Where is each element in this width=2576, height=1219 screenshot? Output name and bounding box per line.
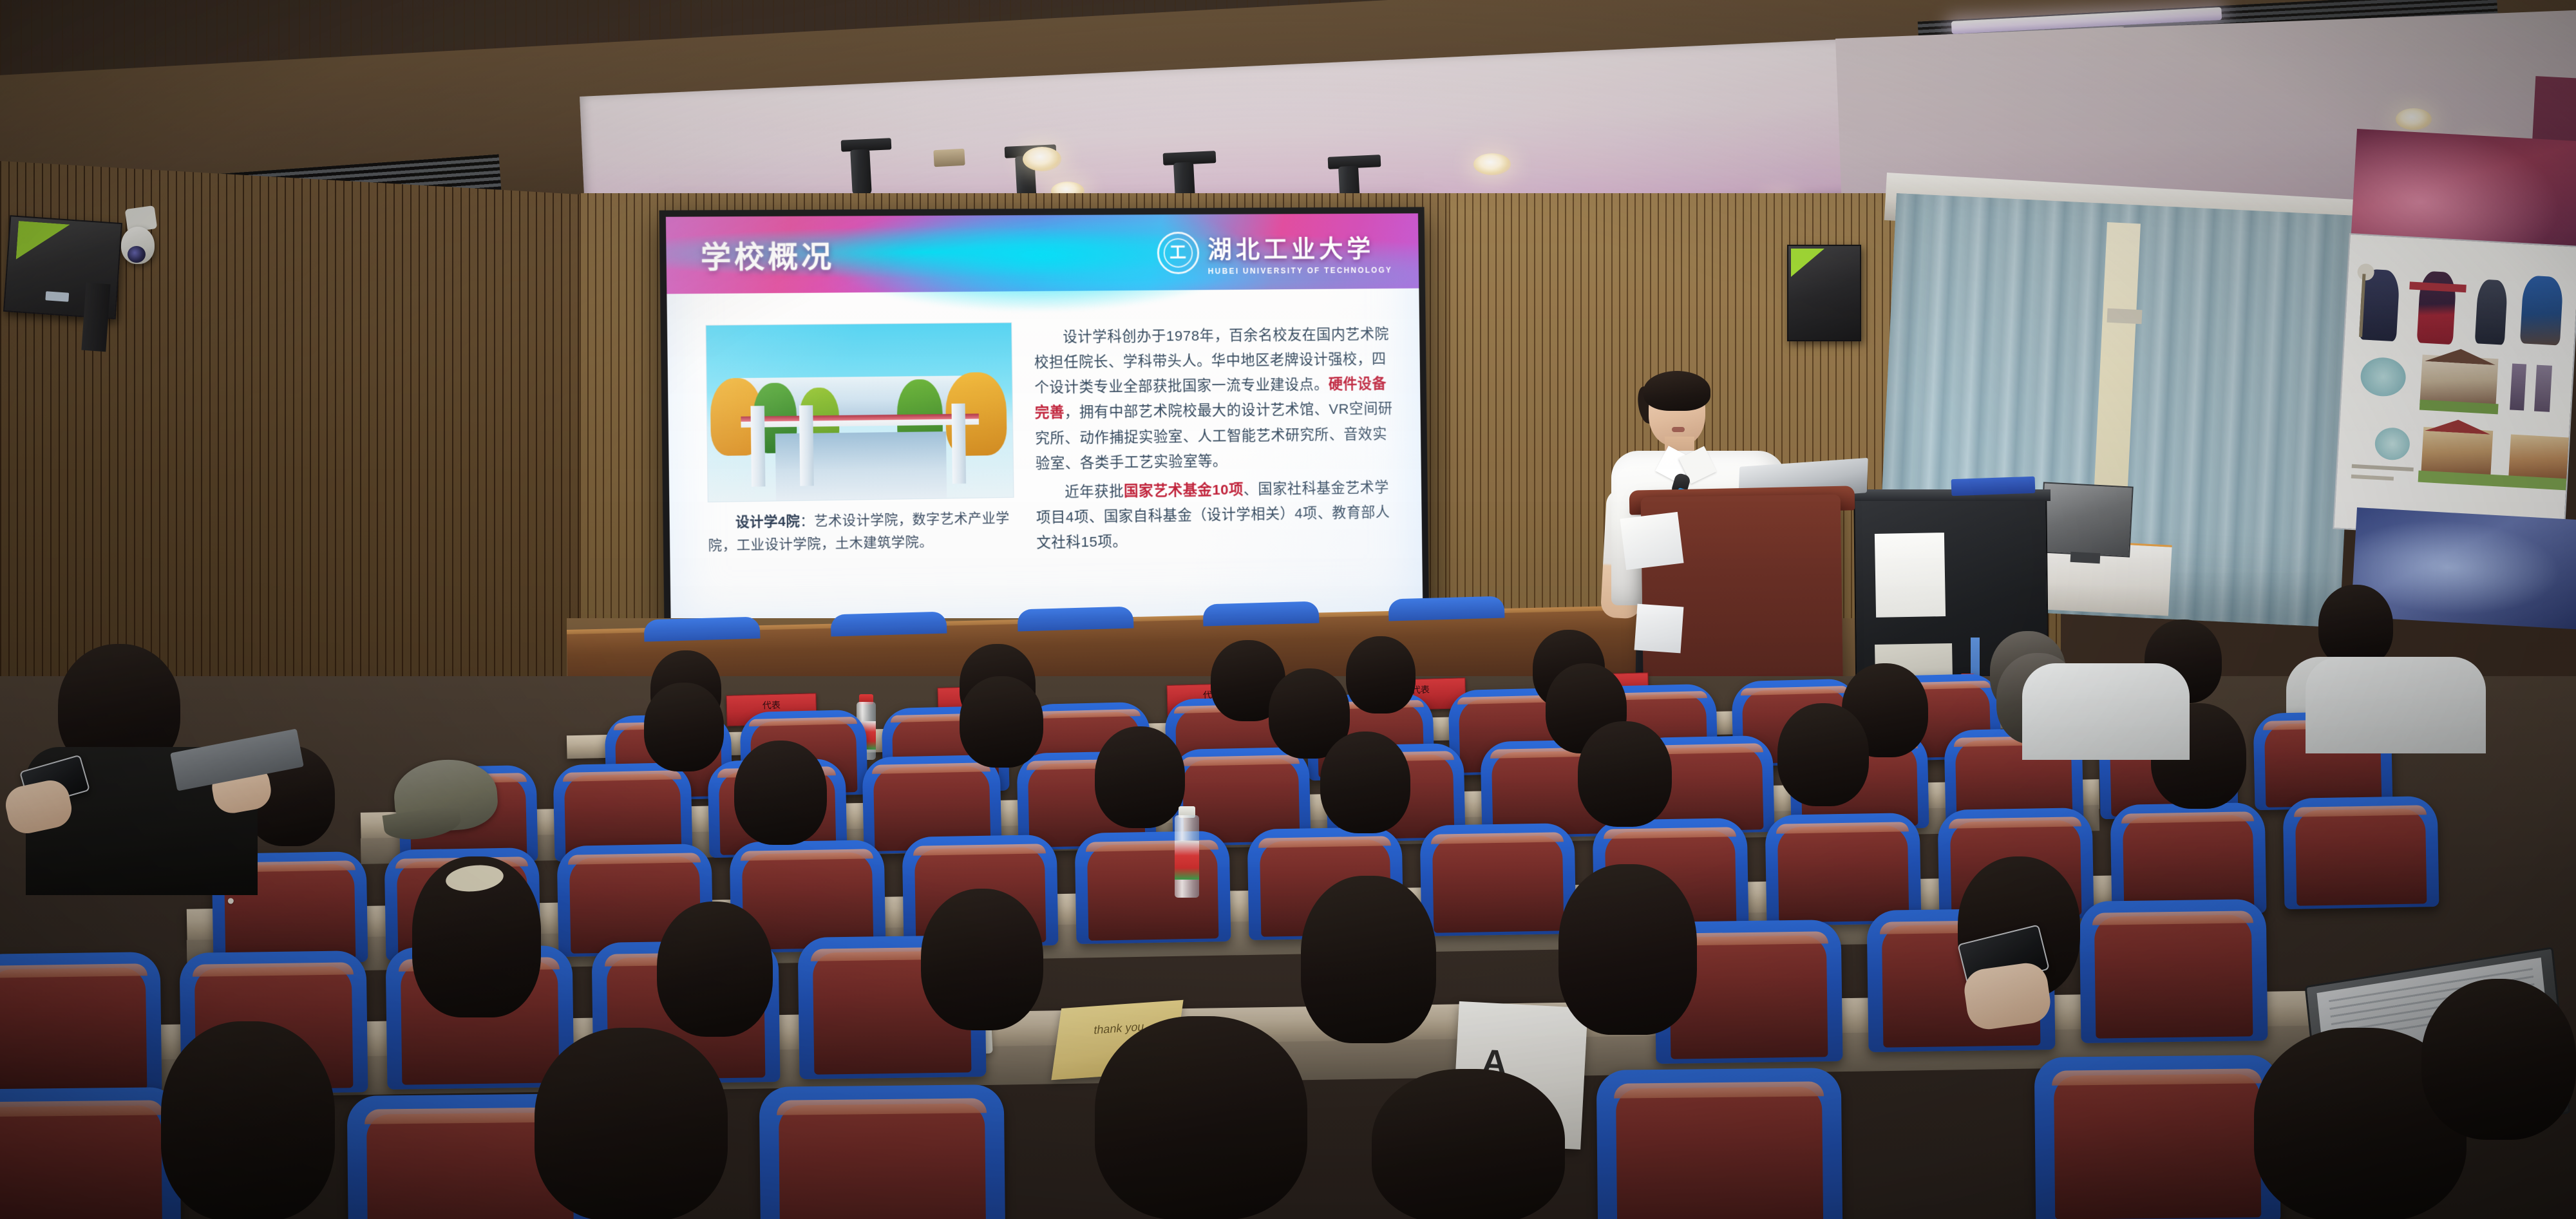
university-seal-icon: 工 <box>1157 232 1199 274</box>
recessed-downlight <box>2396 108 2432 130</box>
audience-head <box>1578 721 1672 827</box>
control-monitor <box>2040 482 2134 557</box>
auditorium-seat[interactable] <box>1596 1068 1843 1219</box>
auditorium-seat[interactable] <box>1765 813 1922 926</box>
audience-shoulders <box>2306 657 2486 753</box>
seat-piping <box>1613 1081 1824 1099</box>
recessed-downlight <box>1023 147 1061 171</box>
audience-head <box>734 741 827 845</box>
slide-left-column: 设计学4院：艺术设计学院，数字艺术产业学院，工业设计学院，土木建筑学院。 <box>705 322 1015 614</box>
lecture-hall-photo: 学校概况 工 湖北工业大学 HUBEI UNIVERSITY OF TECHNO… <box>0 0 2576 1219</box>
podium-paper <box>1620 512 1683 570</box>
auditorium-seat[interactable] <box>0 1087 181 1219</box>
seat-cushion <box>1777 825 1909 922</box>
seat-cushion <box>2054 1073 2261 1219</box>
university-logo: 工 湖北工业大学 HUBEI UNIVERSITY OF TECHNOLOGY <box>1157 229 1392 276</box>
character-figure <box>2475 279 2508 345</box>
gate-pillar <box>952 404 967 484</box>
character-sleeves <box>2409 281 2467 292</box>
seat-cushion <box>1432 835 1564 932</box>
audience-head-long-hair <box>1301 876 1436 1043</box>
recessed-downlight <box>1473 153 1511 175</box>
slide-body-text: 设计学科创办于1978年，百余名校友在国内艺术院校担任院长、学科带头人。华中地区… <box>1034 319 1395 608</box>
sketch-annotation <box>2352 464 2414 471</box>
audience-head <box>1777 703 1869 806</box>
audience-head-long-hair <box>1558 864 1697 1035</box>
audience-head <box>921 889 1043 1030</box>
bottle-label <box>1175 841 1199 880</box>
caption-prefix: 设计学4院 <box>735 514 800 530</box>
seat-cushion <box>2295 808 2427 905</box>
audience-shoulders <box>2022 663 2190 760</box>
concept-art-panel <box>2333 233 2576 542</box>
slide-content: 设计学4院：艺术设计学院，数字艺术产业学院，工业设计学院，土木建筑学院。 设计学… <box>667 288 1423 628</box>
presenter-hair <box>1643 371 1710 411</box>
seat-cushion <box>2123 815 2254 912</box>
audience-head <box>2318 585 2393 667</box>
photo-caption: 设计学4院：艺术设计学院，数字艺术产业学院，工业设计学院，土木建筑学院。 <box>708 507 1014 558</box>
podium-paper <box>1634 604 1684 654</box>
green-tape-marker <box>1791 249 1824 277</box>
monitor-stand <box>2070 552 2101 563</box>
window-shelf <box>2107 308 2142 325</box>
wall-speaker-right <box>1787 245 1861 341</box>
seat-piping <box>0 963 147 978</box>
seat-piping <box>0 1100 164 1117</box>
auditorium-seat[interactable] <box>2034 1055 2281 1219</box>
slide-header-banner: 学校概况 工 湖北工业大学 HUBEI UNIVERSITY OF TECHNO… <box>666 213 1419 294</box>
audience-head-long-hair <box>1372 1069 1565 1219</box>
blue-equipment-item <box>1951 477 2036 496</box>
audience-head <box>2421 979 2576 1140</box>
seat-cushion <box>0 967 147 1091</box>
seat-cushion <box>1616 1086 1823 1219</box>
stage-chair-top <box>1203 601 1320 626</box>
campus-gate-beam <box>741 414 980 428</box>
building-sketch <box>2508 434 2570 481</box>
seat-piping <box>2092 911 2253 925</box>
speaker-brand-badge <box>45 291 69 301</box>
audience-head-long-hair <box>161 1021 335 1219</box>
gate-pillar <box>750 406 765 487</box>
audience-head <box>1095 726 1185 828</box>
seat-cushion <box>0 1105 162 1219</box>
ceiling-air-vent <box>933 149 965 167</box>
audience-head <box>1346 636 1416 713</box>
seat-cushion <box>2094 914 2253 1039</box>
seal-glyph: 工 <box>1170 245 1186 261</box>
sketch-annotation <box>2351 475 2394 481</box>
para-highlight: 国家艺术基金10项 <box>1124 481 1244 499</box>
stage-chair-top <box>1388 596 1505 621</box>
seat-stud <box>228 898 234 903</box>
artifact-sketch <box>2374 427 2410 461</box>
pillar-sketch <box>2510 363 2526 410</box>
track-spotlight-icon <box>850 149 872 196</box>
artifact-sketch <box>2360 356 2407 397</box>
campus-gate-photo <box>705 322 1014 502</box>
pillar-sketch <box>2534 365 2552 412</box>
para-segment: 近年获批 <box>1065 483 1124 500</box>
auditorium-seat[interactable] <box>759 1084 1006 1219</box>
audience-head <box>960 676 1043 768</box>
auditorium-seat[interactable] <box>0 952 162 1096</box>
slide-paragraph: 设计学科创办于1978年，百余名校友在国内艺术院校担任院长、学科带头人。华中地区… <box>1034 321 1394 476</box>
presenter-mouth <box>1672 427 1685 432</box>
gate-pillar <box>799 405 814 486</box>
seat-piping <box>2051 1068 2262 1086</box>
green-tape-marker <box>16 221 70 263</box>
auditorium-seat[interactable] <box>1075 831 1231 944</box>
character-figure <box>2520 275 2564 345</box>
audience-head-long-hair <box>1095 1016 1307 1219</box>
stage-chair-top <box>831 611 947 636</box>
seat-piping <box>193 962 354 977</box>
stage-chair-top <box>1018 606 1134 631</box>
seat-piping <box>776 1098 987 1115</box>
slide-paragraph: 近年获批国家艺术基金10项、国家社科基金艺术学项目4项、国家自科基金（设计学相关… <box>1036 475 1394 556</box>
audience-head-long-hair <box>535 1028 728 1219</box>
stage-chair-top <box>644 616 761 641</box>
presentation-slide: 学校概况 工 湖北工业大学 HUBEI UNIVERSITY OF TECHNO… <box>666 213 1423 628</box>
audience-head <box>1320 732 1410 833</box>
slide-title: 学校概况 <box>701 233 835 277</box>
audience-head <box>657 902 773 1037</box>
seat-cushion <box>779 1103 986 1219</box>
university-name-cn: 湖北工业大学 <box>1207 229 1392 265</box>
auditorium-seat[interactable] <box>1420 823 1577 936</box>
para-segment: ，拥有中部艺术院校最大的设计艺术馆、VR空间研究所、动作捕捉实验室、人工智能艺术… <box>1035 401 1392 471</box>
audience-head <box>644 683 724 771</box>
speaker-mount-bracket <box>81 283 110 352</box>
university-name-en: HUBEI UNIVERSITY OF TECHNOLOGY <box>1208 265 1393 276</box>
av-rack-label <box>1875 533 1946 618</box>
building-sketch <box>2421 427 2493 477</box>
camera-lens-icon <box>128 246 146 263</box>
auditorium-seat[interactable] <box>2283 796 2439 909</box>
auditorium-seat[interactable] <box>2079 899 2268 1043</box>
projection-screen: 学校概况 工 湖北工业大学 HUBEI UNIVERSITY OF TECHNO… <box>659 207 1429 635</box>
